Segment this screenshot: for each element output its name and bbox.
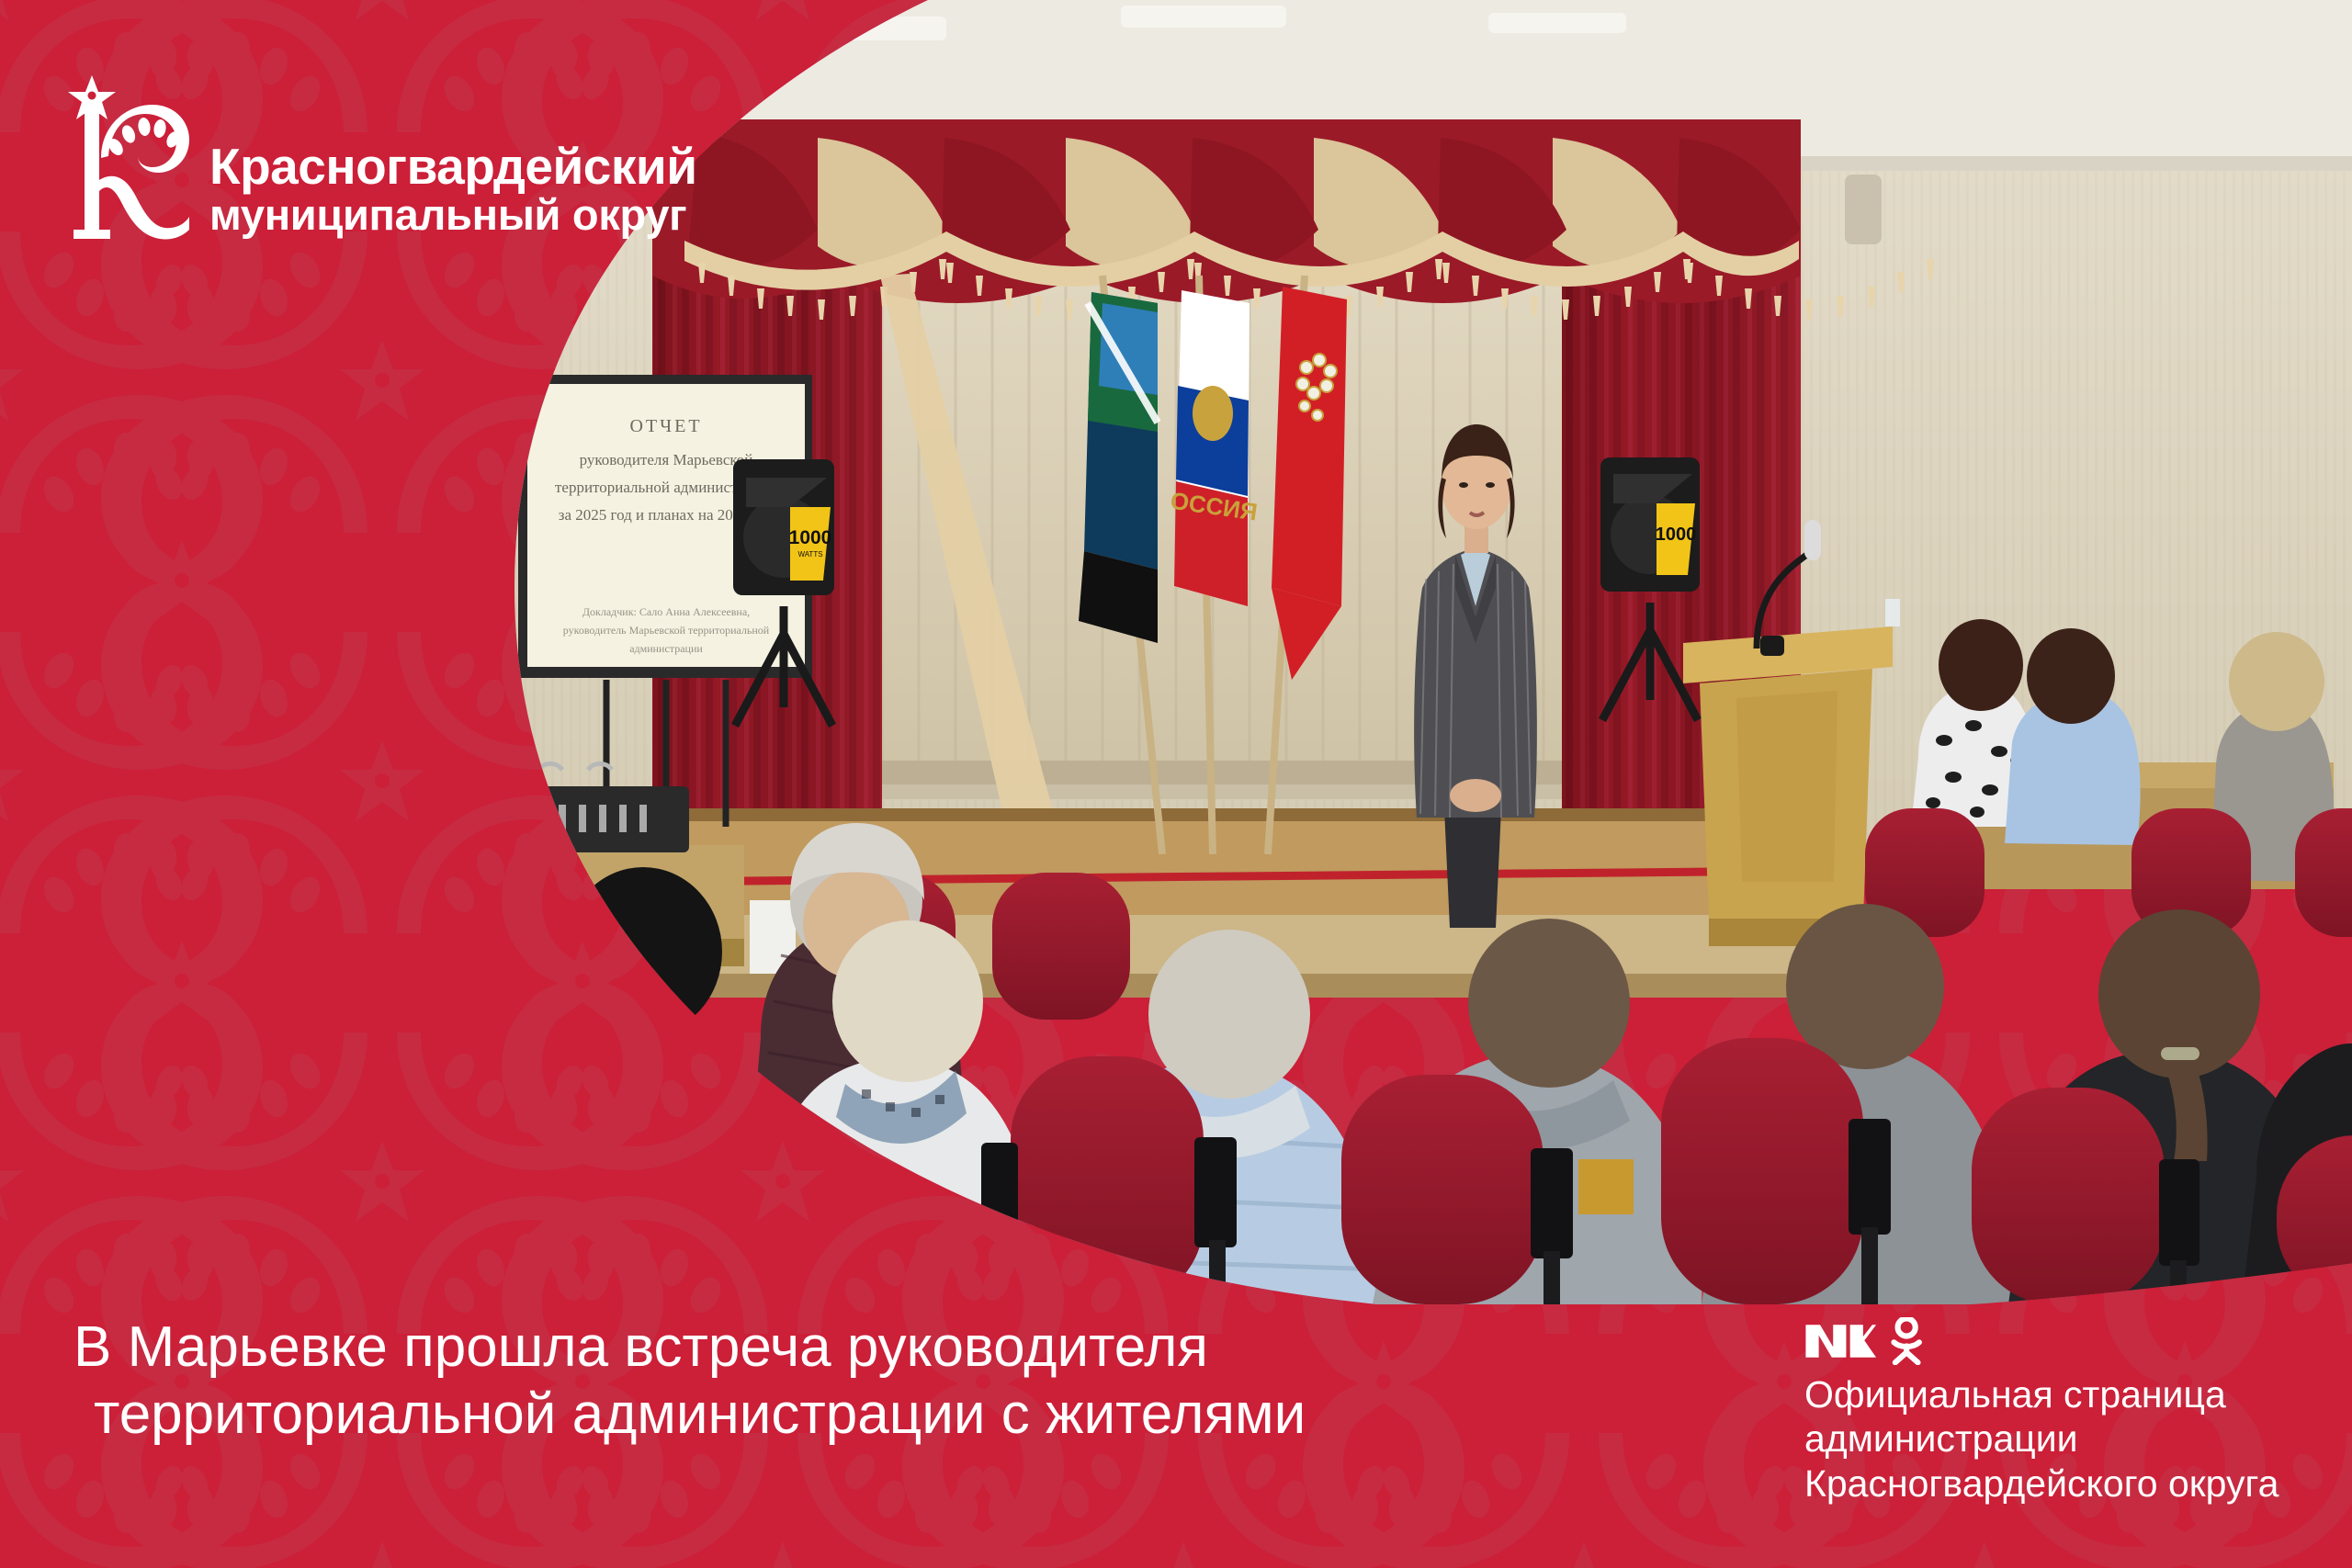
svg-text:1000: 1000 [1656, 525, 1697, 545]
social-line-3: Красногвардейского округа [1804, 1461, 2301, 1506]
caption-line-2: территориальной администрации с жителями [73, 1381, 1746, 1448]
svg-text:руководитель Марьевской террит: руководитель Марьевской территориальной [563, 624, 770, 637]
social-line-1: Официальная страница [1804, 1372, 2301, 1416]
svg-text:администрации: администрации [629, 642, 703, 655]
municipality-logo: Красногвардейский муниципальный округ [57, 72, 697, 242]
logo-wordmark: Красногвардейский муниципальный округ [209, 142, 697, 242]
svg-text:WATTS: WATTS [797, 550, 822, 558]
svg-text:1000: 1000 [789, 527, 832, 548]
svg-text:ОТЧЕТ: ОТЧЕТ [629, 416, 702, 436]
headline-caption: В Марьевке прошла встреча руководителя т… [0, 1314, 1746, 1448]
svg-text:Докладчик: Сало Анна Алексеевн: Докладчик: Сало Анна Алексеевна, [582, 605, 750, 618]
vk-icon[interactable] [1804, 1321, 1876, 1361]
logo-line-1: Красногвардейский [209, 142, 697, 192]
poster-root: ОТЧЕТ руководителя Марьевской территориа… [0, 0, 2352, 1568]
letter-k-star-paisley-icon [57, 72, 193, 242]
logo-line-2: муниципальный округ [209, 194, 697, 236]
caption-line-1: В Марьевке прошла встреча руководителя [73, 1314, 1746, 1381]
social-block: Официальная страница администрации Красн… [1804, 1315, 2301, 1506]
odnoklassniki-icon[interactable] [1889, 1317, 1924, 1365]
svg-text:руководителя Марьевской: руководителя Марьевской [580, 451, 753, 468]
social-description: Официальная страница администрации Красн… [1804, 1372, 2301, 1506]
social-line-2: администрации [1804, 1416, 2301, 1461]
social-icon-row [1804, 1315, 2301, 1367]
